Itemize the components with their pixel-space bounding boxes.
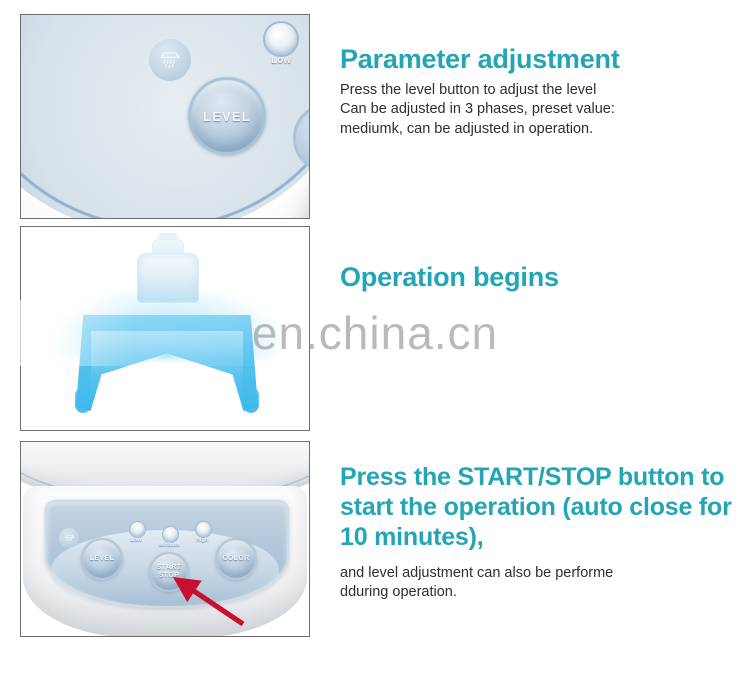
steam-icon: [149, 39, 191, 81]
text-block-operation-begins: Operation begins: [340, 262, 744, 299]
steam-icon: [59, 528, 79, 548]
image-panel-parameter-adjustment: Low LEVEL: [20, 14, 310, 219]
start-button-label: START: [157, 564, 182, 572]
level-button-label: LEVEL: [90, 555, 115, 563]
product-photo-control-panel: Low Medium High LEVEL START STOP COLOR: [21, 442, 309, 636]
indicator-lamp-low: [263, 21, 299, 57]
section-heading: Parameter adjustment: [340, 44, 744, 75]
image-panel-operation-begins: [20, 226, 310, 431]
level-button[interactable]: LEVEL: [188, 77, 266, 155]
product-photo-level-closeup: Low LEVEL: [21, 15, 309, 218]
indicator-lamp-medium: [162, 526, 179, 543]
product-photo-led-hood: [21, 227, 309, 430]
indicator-label-low: Low: [119, 537, 153, 543]
section-body: and level adjustment can also be perform…: [340, 564, 744, 602]
red-arrow-pointer: [169, 574, 251, 630]
indicator-label-high: High: [185, 537, 219, 543]
text-block-start-stop: Press the START/STOP button to start the…: [340, 462, 744, 602]
section-heading: Operation begins: [340, 262, 744, 293]
indicator-lamp-low: [129, 521, 146, 538]
level-button-label: LEVEL: [203, 109, 251, 124]
image-panel-start-stop: Low Medium High LEVEL START STOP COLOR: [20, 441, 310, 637]
section-heading: Press the START/STOP button to start the…: [340, 462, 744, 552]
section-body: Press the level button to adjust the lev…: [340, 81, 744, 138]
level-button[interactable]: LEVEL: [81, 538, 123, 580]
color-button-label: COLOR: [222, 555, 249, 563]
indicator-label-medium: Medium: [152, 542, 186, 548]
indicator-lamp-high: [195, 521, 212, 538]
indicator-label-low: Low: [259, 55, 303, 66]
text-block-parameter-adjustment: Parameter adjustment Press the level but…: [340, 44, 744, 139]
